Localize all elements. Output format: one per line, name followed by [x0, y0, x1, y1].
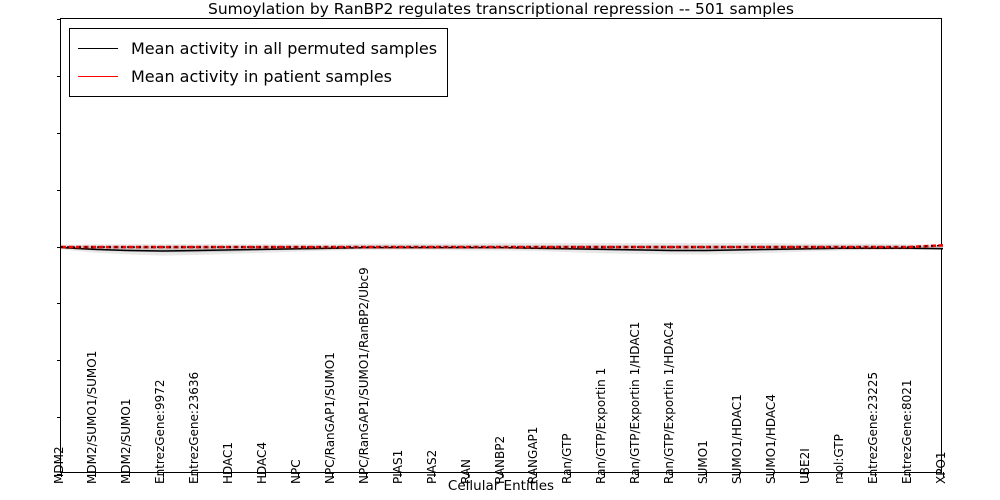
- x-tick-label: Ran/GTP/Exportin 1: [594, 368, 608, 484]
- x-tick-label: mol:GTP: [832, 434, 846, 484]
- x-tick-label: Ran/GTP/Exportin 1/HDAC1: [628, 322, 642, 484]
- legend-label-patient: Mean activity in patient samples: [131, 67, 392, 86]
- chart-figure: Sumoylation by RanBP2 regulates transcri…: [0, 0, 1000, 500]
- x-tick-label: Ran/GTP/Exportin 1/HDAC4: [662, 322, 676, 484]
- x-tick-label: NPC/RanGAP1/SUMO1/RanBP2/Ubc9: [357, 267, 371, 484]
- chart-title: Sumoylation by RanBP2 regulates transcri…: [60, 0, 942, 18]
- legend-entry-permuted: Mean activity in all permuted samples: [78, 34, 437, 62]
- x-tick-label: RANGAP1: [526, 427, 540, 484]
- y-tick-mark: [57, 247, 62, 248]
- x-tick-label: MDM2/SUMO1: [119, 399, 133, 484]
- x-tick-label: SUMO1/HDAC1: [730, 394, 744, 484]
- y-tick-mark: [57, 474, 62, 475]
- x-tick-label: MDM2/SUMO1/SUMO1: [85, 351, 99, 484]
- x-tick-label: EntrezGene:23636: [187, 372, 201, 484]
- plot-area: MDM2MDM2/SUMO1/SUMO1MDM2/SUMO1EntrezGene…: [60, 18, 942, 473]
- x-axis-label: Cellular Entities: [60, 478, 942, 494]
- x-tick-label: NPC/RanGAP1/SUMO1: [323, 352, 337, 484]
- x-tick-label: EntrezGene:23225: [866, 372, 880, 484]
- x-tick-label: EntrezGene:9972: [153, 380, 167, 485]
- legend-line-icon-red: [78, 76, 118, 77]
- x-tick-label: SUMO1/HDAC4: [764, 394, 778, 484]
- x-tick-label: EntrezGene:8021: [900, 380, 914, 485]
- y-tick-mark: [57, 303, 62, 304]
- y-tick-mark: [57, 190, 62, 191]
- x-tick-label: Ran/GTP: [560, 433, 574, 484]
- y-tick-mark: [57, 133, 62, 134]
- legend-label-permuted: Mean activity in all permuted samples: [131, 39, 437, 58]
- y-tick-mark: [57, 360, 62, 361]
- y-tick-mark: [57, 417, 62, 418]
- chart-legend: Mean activity in all permuted samples Me…: [69, 28, 448, 97]
- legend-line-icon-black: [78, 48, 118, 49]
- x-tick-label: RANBP2: [493, 436, 507, 484]
- legend-entry-patient: Mean activity in patient samples: [78, 62, 437, 90]
- y-tick-mark: [57, 76, 62, 77]
- y-tick-mark: [57, 19, 62, 20]
